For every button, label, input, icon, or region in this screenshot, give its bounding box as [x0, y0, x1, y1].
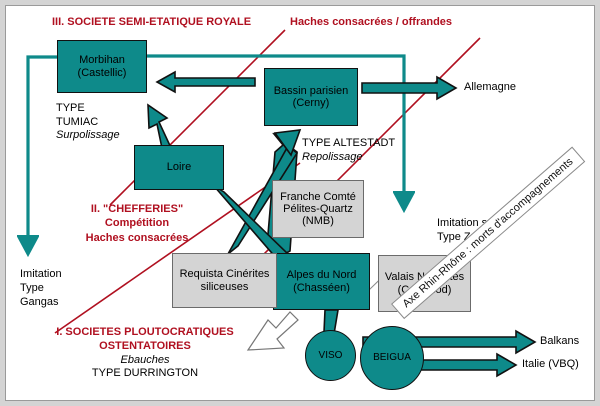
heading-level-3-right: Haches consacrées / offrandes [290, 15, 452, 29]
annotation-type-altestadt: TYPE ALTESTADT [302, 137, 395, 151]
node-bassin-parisien-label: Bassin parisien (Cerny) [265, 85, 357, 110]
annotation-type-tumiac-italic: Surpolissage [56, 129, 120, 143]
annotation-italie: Italie (VBQ) [522, 358, 579, 372]
node-alpes-du-nord[interactable]: Alpes du Nord (Chasséen) [273, 253, 370, 310]
heading-level-1: I. SOCIETES PLOUTOCRATIQUES OSTENTATOIRE… [30, 325, 260, 354]
annotation-type-altestadt-italic: Repolissage [302, 151, 363, 165]
heading-level-2: II. "CHEFFERIES" Compétition Haches cons… [42, 202, 232, 245]
annotation-type-tumiac: TYPE TUMIAC [56, 102, 98, 130]
node-loire[interactable]: Loire [134, 145, 224, 190]
diagram-canvas: III. SOCIETE SEMI-ETATIQUE ROYALE Haches… [0, 0, 600, 406]
node-morbihan-label: Morbihan (Castellic) [58, 54, 146, 79]
annotation-balkans: Balkans [540, 335, 579, 349]
heading-level-1-italic: Ebauches [30, 354, 260, 368]
heading-level-1-sub: TYPE DURRINGTON [30, 367, 260, 381]
node-alpes-du-nord-label: Alpes du Nord (Chasséen) [274, 269, 369, 294]
node-viso-label: VISO [319, 350, 343, 361]
node-franche-comte-label: Franche Comté Pélites-Quartz (NMB) [273, 191, 363, 228]
node-bassin-parisien[interactable]: Bassin parisien (Cerny) [264, 68, 358, 126]
node-requista-label: Requista Cinérites siliceuses [173, 268, 276, 293]
annotation-allemagne: Allemagne [464, 81, 516, 95]
arrow-bassin-to-allemagne [362, 77, 456, 99]
node-beigua-label: BEIGUA [373, 352, 411, 363]
node-loire-label: Loire [167, 161, 191, 173]
node-viso[interactable]: VISO [305, 330, 356, 381]
node-morbihan[interactable]: Morbihan (Castellic) [57, 40, 147, 93]
heading-level-3: III. SOCIETE SEMI-ETATIQUE ROYALE [52, 15, 251, 29]
node-beigua[interactable]: BEIGUA [360, 326, 424, 390]
node-franche-comte[interactable]: Franche Comté Pélites-Quartz (NMB) [272, 180, 364, 238]
node-requista[interactable]: Requista Cinérites siliceuses [172, 253, 277, 308]
annotation-imitation-gangas: Imitation Type Gangas [20, 268, 62, 309]
